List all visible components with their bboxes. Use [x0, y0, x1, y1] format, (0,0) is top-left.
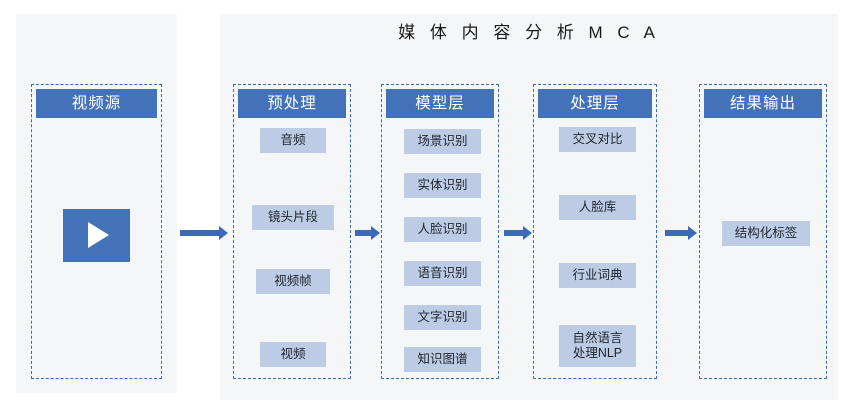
arrow-shaft — [180, 230, 219, 236]
chip-scene-recognition[interactable]: 场景识别 — [404, 129, 481, 154]
chip-face-database[interactable]: 人脸库 — [559, 195, 636, 220]
chip-speech-recognition[interactable]: 语音识别 — [404, 261, 481, 286]
arrow-processing-to-output — [665, 226, 697, 240]
arrow-model-to-processing — [504, 226, 532, 240]
arrow-head-icon — [523, 226, 532, 240]
column-result-output: 结果输出 结构化标签 — [699, 84, 827, 379]
chip-text-recognition[interactable]: 文字识别 — [404, 305, 481, 330]
column-model-layer: 模型层 场景识别 实体识别 人脸识别 语音识别 文字识别 知识图谱 — [381, 84, 499, 379]
column-header-video-source: 视频源 — [36, 89, 157, 118]
arrow-preprocessing-to-model — [355, 226, 380, 240]
column-header-processing-layer: 处理层 — [538, 89, 652, 118]
chip-industry-dictionary[interactable]: 行业词典 — [559, 263, 636, 288]
arrow-shaft — [665, 230, 688, 236]
arrow-head-icon — [219, 226, 228, 240]
chip-entity-recognition[interactable]: 实体识别 — [404, 173, 481, 198]
column-header-result-output: 结果输出 — [704, 89, 822, 118]
diagram-canvas: 媒 体 内 容 分 析 M C A 视频源 预处理 音频 镜头片段 视频帧 视频… — [0, 0, 859, 411]
arrow-shaft — [504, 230, 523, 236]
arrow-head-icon — [688, 226, 697, 240]
column-preprocessing: 预处理 音频 镜头片段 视频帧 视频 — [233, 84, 351, 379]
chip-video[interactable]: 视频 — [260, 342, 326, 367]
arrow-source-to-preprocessing — [180, 226, 228, 240]
chip-video-frame[interactable]: 视频帧 — [256, 269, 330, 294]
chip-face-recognition[interactable]: 人脸识别 — [404, 217, 481, 242]
diagram-title: 媒 体 内 容 分 析 M C A — [220, 18, 838, 43]
play-button-icon[interactable] — [63, 209, 130, 262]
column-processing-layer: 处理层 交叉对比 人脸库 行业词典 自然语言 处理NLP — [533, 84, 657, 379]
chip-audio[interactable]: 音频 — [260, 128, 326, 153]
chip-cross-comparison[interactable]: 交叉对比 — [559, 127, 636, 152]
chip-structured-tags[interactable]: 结构化标签 — [722, 221, 810, 246]
column-video-source: 视频源 — [31, 84, 162, 379]
arrow-shaft — [355, 230, 371, 236]
arrow-head-icon — [371, 226, 380, 240]
column-header-model-layer: 模型层 — [386, 89, 494, 118]
chip-nlp[interactable]: 自然语言 处理NLP — [559, 325, 636, 367]
chip-knowledge-graph[interactable]: 知识图谱 — [404, 347, 481, 372]
play-triangle-icon — [88, 222, 109, 248]
column-header-preprocessing: 预处理 — [238, 89, 346, 118]
chip-shot-segment[interactable]: 镜头片段 — [252, 205, 334, 230]
